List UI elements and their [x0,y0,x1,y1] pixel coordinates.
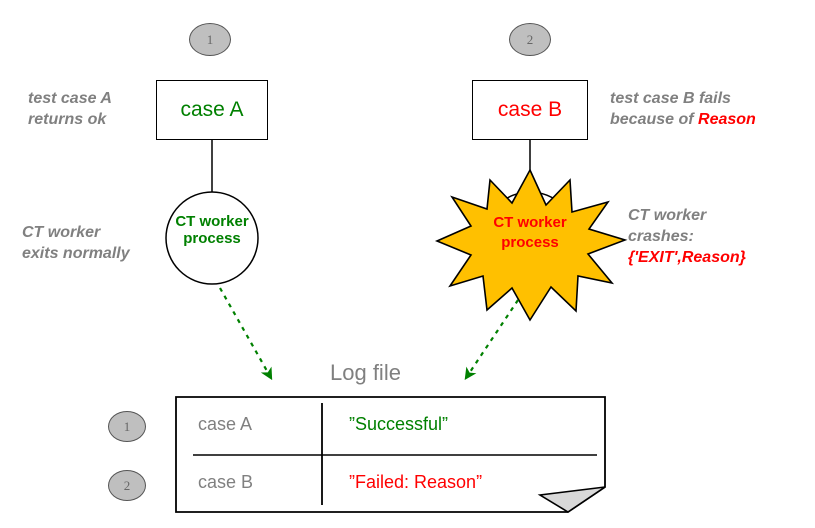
logfile-row-2-result: ”Failed: Reason” [349,472,482,493]
process-label-case-b-line1: CT worker [480,213,580,233]
logfile-title: Log file [330,360,401,386]
case-a-box[interactable]: case A [156,80,268,140]
annotation-process-b: CT worker crashes: {'EXIT',Reason} [628,205,746,268]
logfile-row-1-result: ”Successful” [349,414,448,435]
annotation-process-b-line3: {'EXIT',Reason} [628,247,746,268]
annotation-case-b-line2-prefix: because of [610,111,698,128]
logfile-row-badge-1: 1 [108,411,146,442]
annotation-case-a: test case A returns ok [28,88,112,130]
annotation-process-a-line1: CT worker [22,222,130,243]
process-label-case-b: CT worker process [480,213,580,253]
logfile-row-2-case-label: case B [198,472,253,492]
logfile-row-1-case: case A [198,414,252,435]
annotation-case-b: test case B fails because of Reason [610,88,756,130]
step-badge-1: 1 [189,23,231,56]
annotation-case-b-line2: because of Reason [610,109,756,130]
step-badge-2-label: 2 [527,32,534,48]
logfile-row-1-result-label: ”Successful” [349,414,448,434]
process-label-case-a: CT worker process [162,213,262,247]
case-a-label: case A [180,98,243,122]
arrow-case-a-to-log [220,288,271,378]
annotation-case-a-line1: test case A [28,88,112,109]
logfile-row-2-result-label: ”Failed: Reason” [349,472,482,492]
process-label-case-a-line2: process [162,230,262,247]
logfile-row-2-case: case B [198,472,253,493]
process-label-case-a-line1: CT worker [162,213,262,230]
case-b-label: case B [498,98,562,122]
case-b-box[interactable]: case B [472,80,588,140]
annotation-process-a: CT worker exits normally [22,222,130,264]
annotation-process-a-line2: exits normally [22,243,130,264]
logfile-row-badge-1-label: 1 [124,419,131,435]
annotation-process-b-line1: CT worker [628,205,746,226]
logfile-row-1-case-label: case A [198,414,252,434]
annotation-process-b-line2: crashes: [628,226,746,247]
logfile-row-badge-2-label: 2 [124,478,131,494]
step-badge-1-label: 1 [207,32,214,48]
annotation-case-b-line1: test case B fails [610,88,756,109]
annotation-case-b-reason: Reason [698,111,756,128]
annotation-case-a-line2: returns ok [28,109,112,130]
arrow-case-b-to-log [466,300,518,378]
process-label-case-b-line2: process [480,233,580,253]
logfile-row-badge-2: 2 [108,470,146,501]
step-badge-2: 2 [509,23,551,56]
diagram-canvas: 1 2 case A case B test case A returns ok… [0,0,815,528]
